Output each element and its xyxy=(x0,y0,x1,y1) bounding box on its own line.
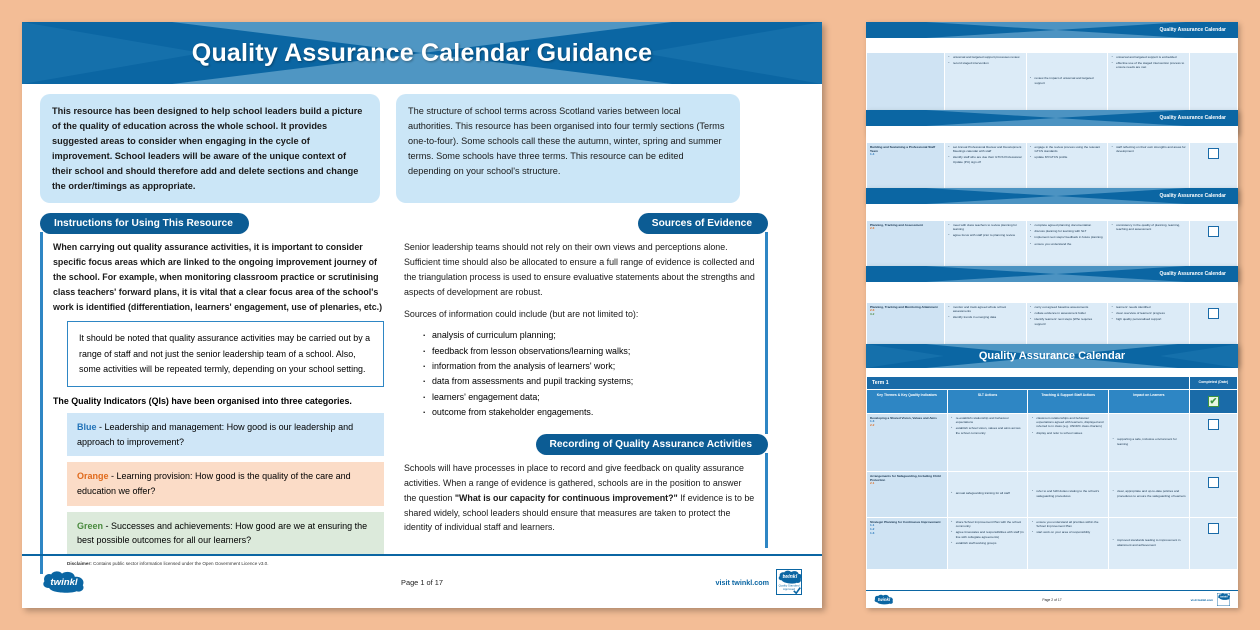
impact-list: learners' needs identified clear overvie… xyxy=(1111,305,1186,322)
list-item: update MYGTCS profile xyxy=(1030,155,1105,159)
front-banner: Quality Assurance Calendar xyxy=(866,344,1238,368)
list-item: start work on your area of responsibilit… xyxy=(1031,530,1105,534)
staff-actions-cell: review the impact of universal and targe… xyxy=(1026,53,1108,111)
impact-list: supporting a safe, inclusive environment… xyxy=(1112,437,1186,445)
list-item: high quality personalised support xyxy=(1111,317,1186,321)
recording-panel: Schools will have processes in place to … xyxy=(402,453,768,548)
completed-cell[interactable] xyxy=(1189,53,1237,111)
sources-heading: Sources of Evidence xyxy=(638,213,768,234)
row-label-cell xyxy=(867,53,945,111)
thumb-title-3: Quality Assurance Calendar xyxy=(1159,193,1238,199)
instructions-heading: Instructions for Using This Resource xyxy=(40,213,249,234)
list-item: staff reflecting on their own strengths … xyxy=(1111,145,1186,153)
slt-actions-cell: share School Improvement Plan with the s… xyxy=(947,518,1028,570)
list-item: universal and targeted support processes… xyxy=(948,55,1023,59)
impact-list: staff reflecting on their own strengths … xyxy=(1111,145,1186,153)
instructions-panel: When carrying out quality assurance acti… xyxy=(40,232,388,573)
thumb-banner-1: Quality Assurance Calendar xyxy=(866,22,1238,38)
completed-checkbox[interactable] xyxy=(1208,226,1219,237)
slt-actions-list: universal and targeted support processes… xyxy=(948,55,1023,65)
list-item: monitor and track agreed whole school as… xyxy=(948,305,1023,313)
thumb-page-number: Page 2 of 17 xyxy=(866,598,1238,602)
instructions-note: It should be noted that quality assuranc… xyxy=(67,321,384,387)
impact-list: universal and targeted support is embedd… xyxy=(1111,55,1186,70)
category-orange-text: - Learning provision: How good is the qu… xyxy=(77,471,351,496)
thumbnail-page-front[interactable]: Quality Assurance Calendar Term 1 Comple… xyxy=(866,344,1238,608)
completed-cell[interactable] xyxy=(1189,303,1237,349)
content-columns: Instructions for Using This Resource Whe… xyxy=(22,207,822,573)
impact-cell: learners' needs identified clear overvie… xyxy=(1108,303,1190,349)
list-item: share School Improvement Plan with the s… xyxy=(951,520,1025,528)
staff-actions-list: classroom relationships and behaviour ex… xyxy=(1031,416,1105,435)
list-item: review the impact of universal and targe… xyxy=(1030,76,1105,84)
slt-actions-cell: re-establish relationship and behaviour … xyxy=(947,414,1028,472)
term-label: Term 1 xyxy=(867,377,1190,390)
slt-actions-list: re-establish relationship and behaviour … xyxy=(951,416,1025,435)
calendar-table-front: Term 1 Completed (Date) Key Themes & Key… xyxy=(866,376,1238,570)
list-item: consistency in the quality of planning, … xyxy=(1111,223,1186,231)
right-column: Sources of Evidence Senior leadership te… xyxy=(402,213,768,573)
recording-quote: "What is our capacity for continuous imp… xyxy=(455,493,678,503)
list-item: collate evidence in assessment folder xyxy=(1030,311,1105,315)
calendar-page-stack: Quality Assurance Calendar universal and… xyxy=(866,22,1238,608)
staff-actions-list: ensure you understand all priorities wit… xyxy=(1031,520,1105,535)
list-item: engage in the review process using the r… xyxy=(1030,145,1105,153)
slt-actions-list: share School Improvement Plan with the s… xyxy=(951,520,1025,545)
col-header-key-themes: Key Themes & Key Quality Indicators xyxy=(867,390,948,414)
staff-actions-list: engage in the review process using the r… xyxy=(1030,145,1105,160)
thumb-title-2: Quality Assurance Calendar xyxy=(1159,115,1238,121)
slt-actions-cell: set Annual Professional Review and Devel… xyxy=(944,143,1026,189)
list-item: agree timescales and responsibilities wi… xyxy=(951,530,1025,538)
calendar-table-1: universal and targeted support processes… xyxy=(866,52,1238,111)
completed-checkbox[interactable] xyxy=(1208,308,1219,319)
list-item: identify trends in emerging data xyxy=(948,315,1023,319)
list-item: data from assessments and pupil tracking… xyxy=(420,374,755,389)
list-item: improved standards leading to improvemen… xyxy=(1112,538,1186,546)
slt-actions-list: meet with class teachers to review plann… xyxy=(948,223,1023,238)
row-label-cell: Planning, Tracking and Assessment 2.3 xyxy=(867,221,945,267)
impact-cell: supporting a safe, inclusive environment… xyxy=(1109,414,1190,472)
category-blue-text: - Leadership and management: How good is… xyxy=(77,422,353,447)
qi-code: 1.4 xyxy=(870,153,941,157)
impact-list: clear, appropriate and up-to-date polici… xyxy=(1112,489,1186,497)
list-item: identify staff who are due their GTCS Pr… xyxy=(948,155,1023,163)
sources-list-intro: Sources of information could include (bu… xyxy=(404,307,755,322)
completed-checkbox[interactable] xyxy=(1208,523,1219,534)
impact-cell: clear, appropriate and up-to-date polici… xyxy=(1109,472,1190,518)
recording-heading: Recording of Quality Assurance Activitie… xyxy=(536,434,768,455)
row-label: Developing a Shared Vision, Values and A… xyxy=(870,416,944,420)
slt-actions-cell: universal and targeted support processes… xyxy=(944,53,1026,111)
thumb-title-4: Quality Assurance Calendar xyxy=(1159,271,1238,277)
qi-code: 2.3 xyxy=(870,227,941,231)
list-item: establish school vision, values and aims… xyxy=(951,426,1025,434)
list-item: analysis of curriculum planning; xyxy=(420,328,755,343)
list-item: annual safeguarding training for all sta… xyxy=(951,491,1025,495)
table-row: Planning, Tracking and Assessment 2.3 me… xyxy=(867,221,1238,267)
impact-list: consistency in the quality of planning, … xyxy=(1111,223,1186,231)
thumb-banner-2: Quality Assurance Calendar xyxy=(866,110,1238,126)
list-item: effective use of the staged intervention… xyxy=(1111,61,1186,69)
instructions-heading-wrap: Instructions for Using This Resource xyxy=(40,213,388,234)
impact-list: improved standards leading to improvemen… xyxy=(1112,538,1186,546)
staff-actions-list: carry out agreed baseline assessments co… xyxy=(1030,305,1105,326)
row-label-cell: Developing a Shared Vision, Values and A… xyxy=(867,414,948,472)
staff-actions-list: complete agreed planning documentation d… xyxy=(1030,223,1105,246)
page-banner: Quality Assurance Calendar Guidance xyxy=(22,22,822,84)
row-label-cell: Strategic Planning for Continuous Improv… xyxy=(867,518,948,570)
guidance-page: Quality Assurance Calendar Guidance This… xyxy=(22,22,822,608)
list-item: supporting a safe, inclusive environment… xyxy=(1112,437,1186,445)
slt-actions-cell: annual safeguarding training for all sta… xyxy=(947,472,1028,518)
page-number: Page 1 of 17 xyxy=(22,578,822,587)
svg-text:twinkl: twinkl xyxy=(782,574,797,580)
sources-list: analysis of curriculum planning; feedbac… xyxy=(420,328,755,420)
row-label-cell: Planning, Tracking and Monitoring Attain… xyxy=(867,303,945,349)
table-row: universal and targeted support processes… xyxy=(867,53,1238,111)
list-item: clear, appropriate and up-to-date polici… xyxy=(1112,489,1186,497)
intro-text-right: The structure of school terms across Sco… xyxy=(396,94,740,203)
list-item: meet with class teachers to review plann… xyxy=(948,223,1023,231)
staff-actions-cell: classroom relationships and behaviour ex… xyxy=(1028,414,1109,472)
col-header-impact: Impact on Learners xyxy=(1109,390,1190,414)
impact-cell: staff reflecting on their own strengths … xyxy=(1108,143,1190,189)
list-item: set Annual Professional Review and Devel… xyxy=(948,145,1023,153)
completed-header: Completed (Date) xyxy=(1189,377,1237,390)
table-row: Arrangements for Safeguarding, Including… xyxy=(867,472,1238,518)
completed-checkbox[interactable] xyxy=(1208,419,1219,430)
completed-cell[interactable] xyxy=(1189,221,1237,267)
list-item: complete agreed planning documentation xyxy=(1030,223,1105,227)
category-orange-key: Orange xyxy=(77,471,109,481)
quality-standard-badge-icon: twinkl Quality Standard Approved xyxy=(776,569,802,595)
list-item: universal and targeted support is embedd… xyxy=(1111,55,1186,59)
qi-code: 3.2 xyxy=(870,313,941,317)
staff-actions-cell: complete agreed planning documentation d… xyxy=(1026,221,1108,267)
slt-actions-list: annual safeguarding training for all sta… xyxy=(951,491,1025,495)
list-item: discuss planning for learning with SLT xyxy=(1030,229,1105,233)
list-item: feedback from lesson observations/learni… xyxy=(420,344,755,359)
slt-actions-cell: monitor and track agreed whole school as… xyxy=(944,303,1026,349)
calendar-table-2: Building and Sustaining a Professional S… xyxy=(866,142,1238,189)
impact-cell: universal and targeted support is embedd… xyxy=(1108,53,1190,111)
intro-text-left: This resource has been designed to help … xyxy=(40,94,380,203)
recording-paragraph: Schools will have processes in place to … xyxy=(404,461,755,535)
categories-intro: The Quality Indicators (QIs) have been o… xyxy=(53,396,384,406)
list-item: display and refer to school values xyxy=(1031,431,1105,435)
completed-cell[interactable] xyxy=(1189,143,1237,189)
staff-actions-cell: ensure you understand all priorities wit… xyxy=(1028,518,1109,570)
table-row: Building and Sustaining a Professional S… xyxy=(867,143,1238,189)
category-green-key: Green xyxy=(77,521,103,531)
staff-actions-cell: carry out agreed baseline assessments co… xyxy=(1026,303,1108,349)
col-header-staff-actions: Teaching & Support Staff Actions xyxy=(1028,390,1109,414)
category-blue: Blue - Leadership and management: How go… xyxy=(67,413,384,456)
thumb-banner-4: Quality Assurance Calendar xyxy=(866,266,1238,282)
list-item: agree focus with staff prior to planning… xyxy=(948,233,1023,237)
impact-cell: consistency in the quality of planning, … xyxy=(1108,221,1190,267)
list-item: record staged intervention xyxy=(948,61,1023,65)
list-item: ensure you understand the xyxy=(1030,242,1105,246)
page-title: Quality Assurance Calendar Guidance xyxy=(192,39,652,68)
list-item: establish staff working groups xyxy=(951,541,1025,545)
completed-header-check-cell: ✔ xyxy=(1189,390,1237,414)
completed-checkbox[interactable] xyxy=(1208,477,1219,488)
front-title: Quality Assurance Calendar xyxy=(979,350,1125,362)
list-item: implement next steps/ feedback in future… xyxy=(1030,235,1105,239)
calendar-table-3: Planning, Tracking and Assessment 2.3 me… xyxy=(866,220,1238,267)
category-blue-key: Blue xyxy=(77,422,97,432)
qi-code: 1.3 xyxy=(870,532,944,536)
completed-checkbox[interactable] xyxy=(1208,148,1219,159)
list-item: ensure you understand all priorities wit… xyxy=(1031,520,1105,528)
list-item: outcome from stakeholder engagements. xyxy=(420,405,755,420)
list-item: learners' engagement data; xyxy=(420,390,755,405)
thumb-title-1: Quality Assurance Calendar xyxy=(1159,27,1238,33)
list-item: classroom relationships and behaviour ex… xyxy=(1031,416,1105,429)
category-green-text: - Successes and achievements: How good a… xyxy=(77,521,367,546)
thumb-footer: twinkl Page 2 of 17 visit twinkl.com twi… xyxy=(866,590,1238,608)
table-row: Planning, Tracking and Monitoring Attain… xyxy=(867,303,1238,349)
slt-actions-list: monitor and track agreed whole school as… xyxy=(948,305,1023,320)
row-label: Building and Sustaining a Professional S… xyxy=(870,145,941,153)
staff-actions-list: review the impact of universal and targe… xyxy=(1030,76,1105,84)
sources-panel: Senior leadership teams should not rely … xyxy=(402,232,768,434)
page-footer: twinkl Page 1 of 17 visit twinkl.com twi… xyxy=(22,554,822,608)
instructions-paragraph: When carrying out quality assurance acti… xyxy=(53,240,384,314)
list-item: carry out agreed baseline assessments xyxy=(1030,305,1105,309)
staff-actions-cell: refer to and fulfil duties relating to t… xyxy=(1028,472,1109,518)
row-label: Planning, Tracking and Monitoring Attain… xyxy=(870,305,941,309)
row-label-cell: Arrangements for Safeguarding, Including… xyxy=(867,472,948,518)
list-item: re-establish relationship and behaviour … xyxy=(951,416,1025,424)
svg-text:Approved: Approved xyxy=(783,587,795,591)
list-item: refer to and fulfil duties relating to t… xyxy=(1031,489,1105,497)
list-item: clear overview of learners' progress xyxy=(1111,311,1186,315)
left-column: Instructions for Using This Resource Whe… xyxy=(40,213,388,573)
table-row: Developing a Shared Vision, Values and A… xyxy=(867,414,1238,472)
slt-actions-list: set Annual Professional Review and Devel… xyxy=(948,145,1023,164)
sources-heading-wrap: Sources of Evidence xyxy=(402,213,768,234)
staff-actions-cell: engage in the review process using the r… xyxy=(1026,143,1108,189)
col-header-slt-actions: SLT Actions xyxy=(947,390,1028,414)
category-green: Green - Successes and achievements: How … xyxy=(67,512,384,555)
column-header-row: Key Themes & Key Quality Indicators SLT … xyxy=(867,390,1238,414)
calendar-table-4: Planning, Tracking and Monitoring Attain… xyxy=(866,302,1238,349)
row-label-cell: Building and Sustaining a Professional S… xyxy=(867,143,945,189)
list-item: information from the analysis of learner… xyxy=(420,359,755,374)
list-item: learners' needs identified xyxy=(1111,305,1186,309)
row-label: Arrangements for Safeguarding, Including… xyxy=(870,474,944,482)
completed-cell[interactable] xyxy=(1189,472,1237,518)
badge-cloud-icon: twinkl Quality Standard Approved xyxy=(777,570,801,594)
sources-paragraph: Senior leadership teams should not rely … xyxy=(404,240,755,299)
list-item: identify learners' next steps (Who requi… xyxy=(1030,317,1105,325)
completed-cell[interactable] xyxy=(1189,518,1237,570)
qi-code: 2.2 xyxy=(870,424,944,428)
completed-cell[interactable] xyxy=(1189,414,1237,472)
intro-section: This resource has been designed to help … xyxy=(22,84,822,207)
category-orange: Orange - Learning provision: How good is… xyxy=(67,462,384,505)
completed-check-icon: ✔ xyxy=(1208,396,1219,407)
table-row: Strategic Planning for Continuous Improv… xyxy=(867,518,1238,570)
staff-actions-list: refer to and fulfil duties relating to t… xyxy=(1031,489,1105,497)
slt-actions-cell: meet with class teachers to review plann… xyxy=(944,221,1026,267)
impact-cell: improved standards leading to improvemen… xyxy=(1109,518,1190,570)
row-label: Strategic Planning for Continuous Improv… xyxy=(870,520,944,524)
term-header-row: Term 1 Completed (Date) xyxy=(867,377,1238,390)
thumb-banner-3: Quality Assurance Calendar xyxy=(866,188,1238,204)
qi-code: 2.1 xyxy=(870,482,944,486)
recording-heading-wrap: Recording of Quality Assurance Activitie… xyxy=(402,434,768,455)
